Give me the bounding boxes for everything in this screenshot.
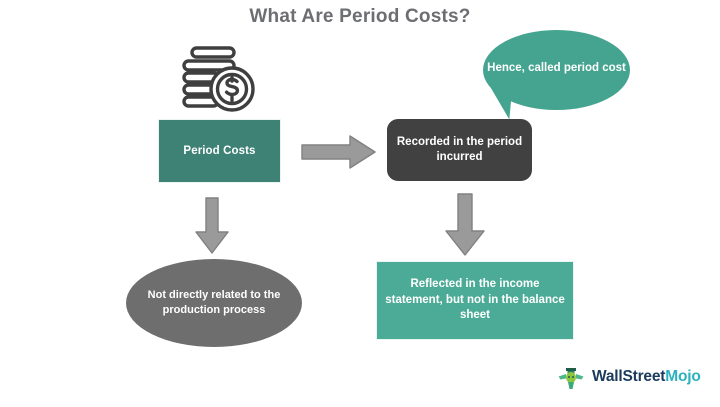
callout-label: Hence, called period cost (487, 61, 626, 80)
page-title: What Are Period Costs? (0, 6, 720, 28)
coins-stack-dollar-icon (176, 42, 260, 114)
node-period-costs: Period Costs (159, 120, 280, 182)
arrow-down-right-icon (443, 192, 487, 258)
callout-body: Hence, called period cost (483, 30, 630, 110)
node-reflected-label: Reflected in the income statement, but n… (377, 277, 573, 324)
diagram-canvas: What Are Period Costs? Period Costs Reco… (0, 0, 720, 407)
node-reflected-income-statement: Reflected in the income statement, but n… (377, 262, 573, 339)
arrow-down-left-icon (193, 196, 231, 256)
node-period-costs-label: Period Costs (183, 144, 255, 158)
bull-logo-icon (556, 362, 586, 392)
arrow-right-icon (300, 133, 378, 171)
logo-wordmark: WallStreetMojo (592, 368, 701, 386)
wallstreetmojo-logo[interactable]: WallStreetMojo (556, 360, 708, 394)
node-recorded-in-period: Recorded in the period incurred (387, 119, 532, 181)
node-not-directly-related: Not directly related to the production p… (126, 259, 302, 347)
logo-text-wallstreet: WallStreet (592, 368, 665, 385)
node-not-related-label: Not directly related to the production p… (126, 288, 302, 318)
callout-hence-period-cost: Hence, called period cost (483, 30, 630, 110)
logo-text-mojo: Mojo (665, 368, 700, 385)
node-recorded-label: Recorded in the period incurred (387, 135, 532, 165)
